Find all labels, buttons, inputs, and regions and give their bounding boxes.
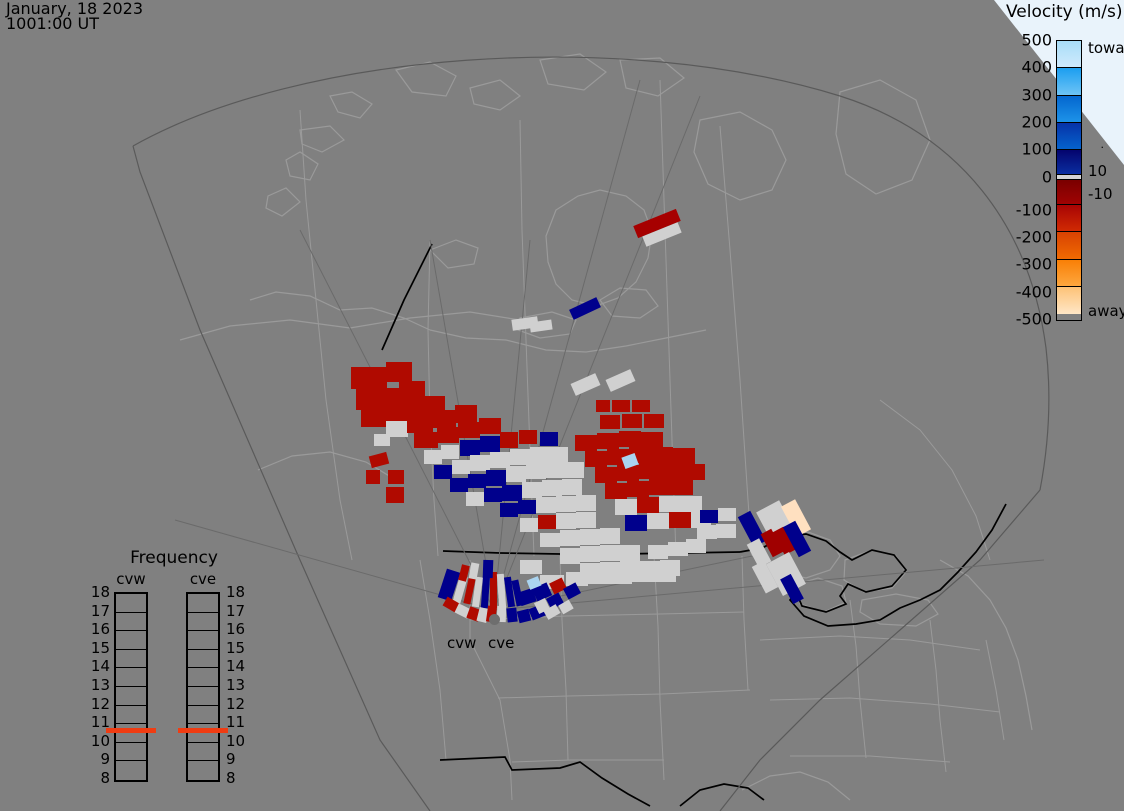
velocity-cell — [432, 410, 456, 428]
velocity-cell — [576, 512, 596, 528]
velocity-colorbar-segment — [1057, 260, 1081, 287]
velocity-cell — [466, 492, 484, 506]
velocity-cell — [585, 451, 607, 467]
frequency-tick-label-right: 13 — [226, 676, 252, 694]
velocity-cell — [575, 435, 597, 451]
velocity-cell — [648, 545, 668, 559]
frequency-scale-cell — [116, 668, 146, 687]
frequency-tick-label-left: 15 — [84, 639, 110, 657]
velocity-cell — [625, 515, 647, 531]
velocity-legend: Velocity (m/s) 5004003002001000-100-200-… — [1000, 0, 1124, 330]
radar-label-cvw: cvw — [447, 634, 476, 652]
frequency-tick-label-left: 8 — [84, 769, 110, 787]
velocity-cell — [649, 479, 671, 495]
frequency-tick-label-left: 17 — [84, 602, 110, 620]
velocity-cell — [580, 546, 600, 562]
velocity-cell — [460, 440, 480, 456]
velocity-cell — [661, 463, 683, 479]
frequency-legend: Frequency cvw cve 18171615141312111098 1… — [84, 548, 264, 788]
frequency-scale-cell — [188, 631, 218, 650]
velocity-cell — [718, 508, 736, 521]
frequency-scale-cell — [188, 706, 218, 725]
frequency-scale-cell — [188, 650, 218, 669]
frequency-scale-cell — [116, 687, 146, 706]
velocity-cell — [556, 513, 576, 529]
velocity-cell — [529, 320, 552, 333]
velocity-cell — [669, 512, 691, 528]
frequency-tick-label-right: 12 — [226, 695, 252, 713]
velocity-cell — [562, 479, 582, 495]
frequency-scale-cell — [116, 706, 146, 725]
frequency-legend-title: Frequency — [84, 548, 264, 568]
frequency-tick-label-right: 17 — [226, 602, 252, 620]
frequency-scale-cell — [116, 650, 146, 669]
velocity-tick-label: -100 — [998, 200, 1052, 219]
velocity-cell — [622, 414, 642, 428]
velocity-cell — [519, 430, 537, 444]
frequency-scale-cell — [116, 594, 146, 613]
velocity-colorbar-segment — [1057, 205, 1081, 232]
frequency-tick-label-right: 8 — [226, 769, 252, 787]
velocity-cell — [455, 405, 477, 423]
frequency-tick-label-right: 14 — [226, 657, 252, 675]
velocity-cell — [526, 463, 546, 479]
velocity-cell — [484, 488, 502, 502]
velocity-toward-label: toward — [1088, 39, 1124, 57]
velocity-cell — [546, 462, 566, 478]
velocity-cell — [683, 464, 705, 480]
radar-label-cve: cve — [488, 634, 514, 652]
velocity-cell — [540, 432, 558, 446]
velocity-cell — [654, 568, 676, 582]
velocity-cell — [697, 525, 717, 539]
velocity-colorbar — [1056, 40, 1082, 321]
velocity-cell — [700, 510, 718, 523]
velocity-cell — [632, 400, 650, 412]
velocity-cell — [600, 415, 620, 429]
velocity-cell — [606, 369, 636, 392]
velocity-away-label: away — [1088, 302, 1124, 320]
velocity-cell — [610, 570, 632, 584]
frequency-scale-cell — [116, 761, 146, 780]
velocity-colorbar-segment — [1057, 150, 1081, 175]
velocity-colorbar-segment — [1057, 180, 1081, 205]
frequency-marker-cvw — [106, 728, 156, 733]
frequency-column-header-cve: cve — [178, 570, 228, 588]
velocity-tick-label: -500 — [998, 310, 1052, 329]
velocity-legend-title: Velocity (m/s) — [1006, 2, 1123, 22]
frequency-scale-cell — [188, 687, 218, 706]
velocity-cell — [520, 518, 538, 532]
velocity-cell — [639, 463, 661, 479]
velocity-cell — [458, 422, 480, 438]
frequency-tick-label-left: 14 — [84, 657, 110, 675]
velocity-cell — [441, 445, 459, 459]
velocity-cell — [615, 499, 637, 515]
frequency-tick-label-left: 9 — [84, 750, 110, 768]
frequency-scale-cell — [116, 613, 146, 632]
frequency-tick-label-right: 18 — [226, 583, 252, 601]
velocity-cell — [569, 297, 601, 320]
frequency-scale-cell — [116, 631, 146, 650]
velocity-cell — [530, 447, 550, 463]
velocity-cell — [470, 455, 490, 471]
velocity-cell — [479, 418, 501, 434]
velocity-cell — [651, 447, 673, 463]
velocity-cell — [641, 432, 663, 448]
velocity-cell — [571, 373, 601, 396]
velocity-cell — [680, 496, 702, 512]
velocity-tick-label: -200 — [998, 227, 1052, 246]
velocity-cell — [518, 500, 536, 514]
velocity-tick-label: 300 — [998, 85, 1052, 104]
velocity-tick-label: -300 — [998, 255, 1052, 274]
velocity-cell — [540, 533, 560, 547]
velocity-tick-label: 0 — [998, 167, 1052, 186]
velocity-tick-label: 500 — [998, 31, 1052, 50]
velocity-cell — [369, 452, 389, 468]
velocity-cell — [671, 479, 693, 495]
frequency-tick-label-left: 18 — [84, 583, 110, 601]
frequency-scale-cell — [188, 613, 218, 632]
velocity-tick-label: 100 — [998, 140, 1052, 159]
velocity-cell — [452, 460, 470, 474]
frequency-scale-cell — [188, 594, 218, 613]
velocity-cell — [627, 481, 649, 497]
velocity-cell — [605, 483, 627, 499]
velocity-cell — [424, 450, 442, 464]
velocity-colorbar-segment — [1057, 96, 1081, 123]
frequency-column-header-cvw: cvw — [106, 570, 156, 588]
velocity-cell — [520, 560, 542, 574]
frequency-tick-label-right: 9 — [226, 750, 252, 768]
velocity-cell — [351, 367, 387, 389]
velocity-cell — [596, 400, 610, 412]
velocity-cell — [550, 447, 568, 463]
velocity-cell — [486, 470, 506, 486]
timestamp: January, 18 2023 1001:00 UT — [6, 1, 143, 31]
velocity-cell — [600, 528, 620, 544]
velocity-tick-label: 400 — [998, 58, 1052, 77]
velocity-cell — [388, 470, 404, 484]
velocity-cell — [437, 427, 459, 443]
velocity-cell — [580, 529, 600, 545]
velocity-plus10-label: 10 — [1088, 162, 1107, 180]
velocity-cell — [644, 414, 664, 428]
velocity-cell — [595, 467, 617, 483]
velocity-cell — [536, 497, 556, 513]
frequency-scale-cell — [188, 668, 218, 687]
frequency-tick-label-right: 11 — [226, 713, 252, 731]
velocity-cell — [686, 539, 706, 553]
frequency-scale-cve — [186, 592, 220, 782]
velocity-cell — [481, 574, 490, 608]
velocity-cell — [502, 485, 522, 501]
frequency-scale-cell — [188, 743, 218, 762]
velocity-cell — [374, 434, 390, 446]
radar-map-figure: · — [0, 0, 1124, 811]
velocity-cell — [560, 530, 580, 546]
radar-site-dot — [489, 614, 500, 625]
frequency-scale-cell — [116, 743, 146, 762]
velocity-cell — [673, 448, 695, 464]
velocity-cell — [522, 482, 542, 498]
velocity-cell — [483, 560, 494, 578]
frequency-scale-cvw — [114, 592, 148, 782]
velocity-cell — [506, 608, 517, 623]
velocity-cell — [468, 474, 486, 488]
velocity-cell — [560, 548, 580, 564]
velocity-cell — [500, 503, 518, 517]
velocity-cell — [500, 432, 518, 448]
velocity-tick-label: 200 — [998, 113, 1052, 132]
velocity-cell — [668, 542, 688, 556]
velocity-cell — [566, 572, 588, 586]
velocity-cell — [647, 513, 669, 529]
velocity-cell — [612, 400, 630, 412]
velocity-cell — [538, 515, 556, 529]
velocity-cell — [620, 545, 640, 561]
frequency-tick-label-left: 10 — [84, 732, 110, 750]
velocity-cell — [480, 436, 500, 452]
velocity-colorbar-segment — [1057, 123, 1081, 150]
velocity-colorbar-segment — [1057, 41, 1081, 68]
velocity-cell — [588, 570, 610, 584]
velocity-tick-label: -400 — [998, 282, 1052, 301]
frequency-tick-label-left: 13 — [84, 676, 110, 694]
velocity-colorbar-segment — [1057, 232, 1081, 259]
velocity-colorbar-segment — [1057, 287, 1081, 314]
velocity-cell — [450, 478, 468, 492]
frequency-tick-label-left: 12 — [84, 695, 110, 713]
velocity-cell — [506, 466, 526, 482]
velocity-cell — [619, 431, 641, 447]
velocity-cell — [434, 465, 452, 479]
velocity-cell — [597, 433, 619, 449]
velocity-minus10-label: -10 — [1088, 185, 1113, 203]
velocity-cell — [386, 362, 412, 382]
velocity-cell — [600, 545, 620, 561]
velocity-cell — [632, 568, 654, 582]
velocity-colorbar-segment — [1057, 68, 1081, 95]
velocity-cell — [366, 470, 380, 484]
velocity-cell — [716, 524, 736, 538]
velocity-cell — [386, 487, 404, 503]
frequency-tick-label-right: 15 — [226, 639, 252, 657]
frequency-scale-cell — [188, 761, 218, 780]
velocity-cell — [542, 480, 562, 496]
frequency-tick-label-right: 16 — [226, 620, 252, 638]
frequency-marker-cve — [178, 728, 228, 733]
velocity-cell — [414, 432, 438, 448]
velocity-cell — [556, 496, 576, 512]
velocity-cell — [566, 462, 584, 478]
velocity-cell — [659, 496, 681, 512]
frequency-tick-label-right: 10 — [226, 732, 252, 750]
velocity-cell — [637, 497, 659, 513]
velocity-cell — [576, 495, 596, 511]
velocity-cell — [407, 415, 433, 433]
frequency-tick-label-left: 16 — [84, 620, 110, 638]
